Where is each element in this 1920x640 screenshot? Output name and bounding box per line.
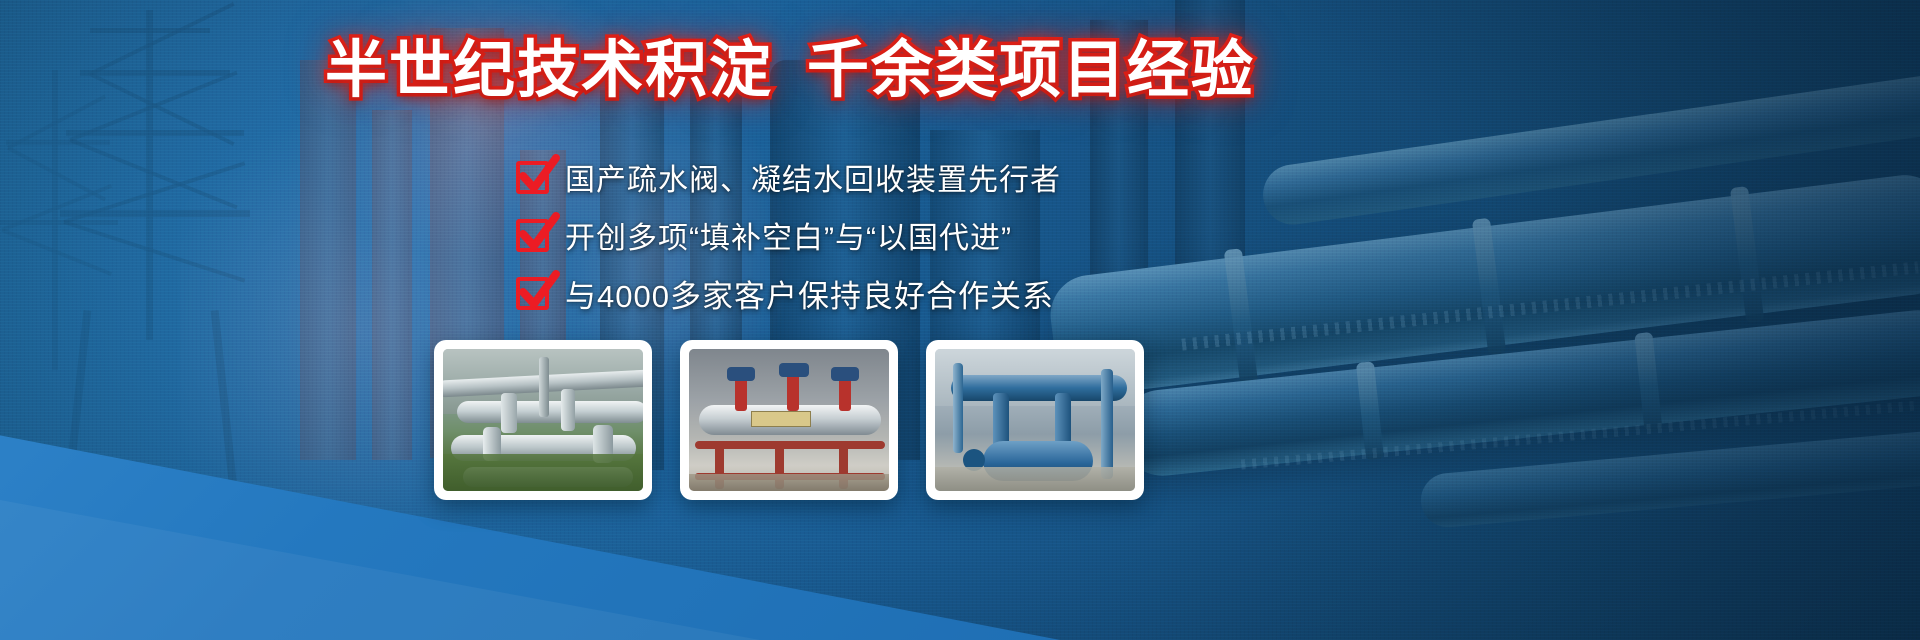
headline-part-2: 千余类项目经验 (807, 36, 1255, 105)
list-item: 国产疏水阀、凝结水回收装置先行者 (516, 150, 1416, 204)
product-photo-3 (935, 349, 1135, 491)
product-photo-2 (689, 349, 889, 491)
feature-list: 国产疏水阀、凝结水回收装置先行者 开创多项“填补空白”与“以国代进” 与4000… (516, 150, 1416, 324)
list-item-label: 开创多项“填补空白”与“以国代进” (565, 213, 1012, 257)
photo-card[interactable] (680, 340, 898, 500)
list-item: 开创多项“填补空白”与“以国代进” (516, 208, 1416, 262)
product-photo-1 (443, 349, 643, 491)
photo-card[interactable] (926, 340, 1144, 500)
photo-card[interactable] (434, 340, 652, 500)
list-item-label: 国产疏水阀、凝结水回收装置先行者 (565, 155, 1061, 199)
check-square-icon (516, 161, 549, 194)
check-square-icon (516, 277, 549, 310)
banner-headline: 半世纪技术积淀千余类项目经验 (0, 38, 1580, 103)
promo-banner: 半世纪技术积淀千余类项目经验 国产疏水阀、凝结水回收装置先行者 开创多项“填补空… (0, 0, 1920, 640)
list-item: 与4000多家客户保持良好合作关系 (516, 266, 1416, 320)
headline-part-1: 半世纪技术积淀 (325, 36, 773, 105)
check-square-icon (516, 219, 549, 252)
list-item-label: 与4000多家客户保持良好合作关系 (565, 271, 1054, 316)
product-photo-gallery (434, 340, 1144, 500)
